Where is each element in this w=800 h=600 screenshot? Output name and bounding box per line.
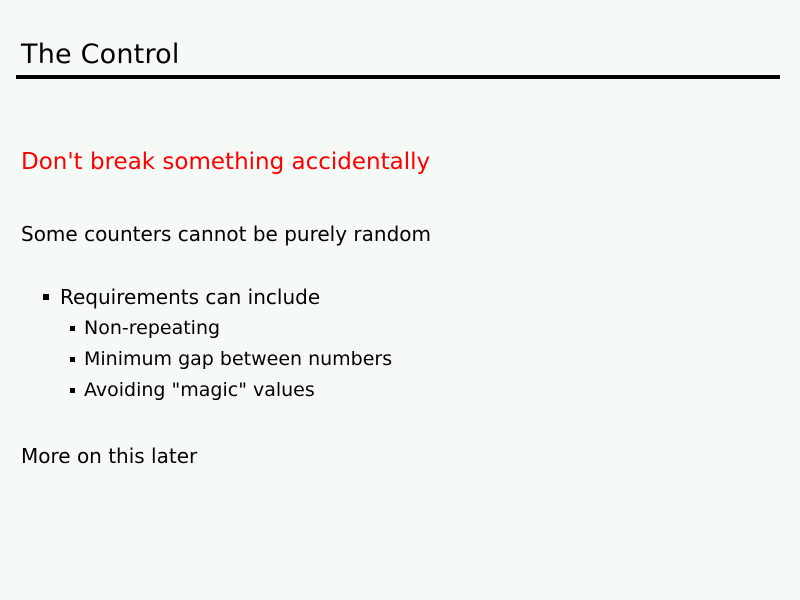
list-item-label: Non-repeating (84, 315, 220, 341)
square-bullet-icon (70, 357, 75, 362)
bullet-list: Requirements can include Non-repeating M… (0, 284, 800, 408)
lead-heading: Don't break something accidentally (21, 148, 430, 177)
square-bullet-icon (70, 326, 75, 331)
list-item: Requirements can include (0, 284, 800, 315)
square-bullet-icon (70, 388, 75, 393)
list-item-label: Avoiding "magic" values (84, 377, 315, 403)
body-paragraph-1: Some counters cannot be purely random (21, 221, 431, 247)
list-item: Non-repeating (0, 315, 800, 346)
list-item-label: Requirements can include (60, 284, 320, 310)
slide-body: Don't break something accidentally Some … (0, 0, 800, 600)
list-item-label: Minimum gap between numbers (84, 346, 392, 372)
slide: The Control Don't break something accide… (0, 0, 800, 600)
list-item: Avoiding "magic" values (0, 377, 800, 408)
body-paragraph-2: More on this later (21, 443, 197, 469)
square-bullet-icon (43, 294, 49, 300)
list-item: Minimum gap between numbers (0, 346, 800, 377)
